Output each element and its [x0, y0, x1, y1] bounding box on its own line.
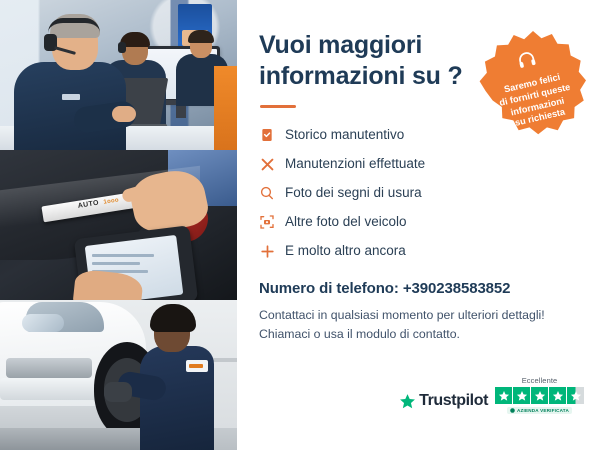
photo-call-center-agent-headset [0, 0, 237, 150]
contact-subtext-line-2: Chiamaci o usa il modulo di contatto. [259, 327, 460, 341]
headline-line-2: informazioni su ? [259, 62, 463, 90]
trustpilot-rating: Eccellente [495, 376, 584, 414]
feature-item-foto-segni-usura: Foto dei segni di usura [259, 180, 578, 206]
headset-icon [515, 48, 540, 77]
trustpilot-logo: Trustpilot [399, 392, 488, 414]
photo-technician-measuring-car-paint [0, 150, 237, 300]
feature-label: Altre foto del veicolo [285, 215, 407, 229]
trustpilot-rating-caption: Eccellente [522, 376, 558, 385]
star-1 [495, 387, 512, 404]
feature-label: Storico manutentivo [285, 128, 404, 142]
trustpilot-widget[interactable]: Trustpilot Eccellente [399, 376, 584, 414]
verified-check-icon [510, 408, 515, 413]
photo-mechanic-inspecting-wheel [0, 300, 237, 450]
feature-label: Foto dei segni di usura [285, 186, 422, 200]
tools-cross-icon [259, 156, 285, 173]
info-request-card: Vuoi maggiori informazioni su ? Storico … [0, 0, 600, 450]
feature-item-altre-foto-veicolo: Altre foto del veicolo [259, 209, 578, 235]
star-4 [549, 387, 566, 404]
clipboard-check-icon [259, 127, 285, 143]
callout-badge: Saremo felici di fornirti queste informa… [474, 28, 592, 146]
feature-item-manutenzioni-effettuate: Manutenzioni effettuate [259, 151, 578, 177]
title-divider [260, 105, 296, 108]
info-panel: Vuoi maggiori informazioni su ? Storico … [237, 0, 600, 450]
trustpilot-name: Trustpilot [419, 392, 488, 410]
verified-company-label: AZIENDA VERIFICATA [517, 408, 569, 413]
contact-subtext: Contattaci in qualsiasi momento per ulte… [259, 306, 578, 344]
feature-item-molto-altro: E molto altro ancora [259, 238, 578, 264]
feature-label: Manutenzioni effettuate [285, 157, 425, 171]
phone-label: Numero di telefono: [259, 280, 399, 297]
plus-icon [259, 243, 285, 260]
phone-number[interactable]: +390238583852 [403, 280, 511, 297]
magnifier-icon [259, 185, 285, 201]
verified-company-badge: AZIENDA VERIFICATA [507, 407, 572, 414]
trustpilot-stars [495, 387, 584, 404]
star-5 [567, 387, 584, 404]
feature-label: E molto altro ancora [285, 244, 406, 258]
star-2 [513, 387, 530, 404]
contact-subtext-line-1: Contattaci in qualsiasi momento per ulte… [259, 308, 545, 322]
trustpilot-star-icon [399, 393, 416, 410]
phone-line: Numero di telefono: +390238583852 [259, 280, 578, 297]
photo-column [0, 0, 237, 450]
star-3 [531, 387, 548, 404]
camera-frame-icon [259, 214, 285, 230]
headline-line-1: Vuoi maggiori [259, 31, 422, 59]
